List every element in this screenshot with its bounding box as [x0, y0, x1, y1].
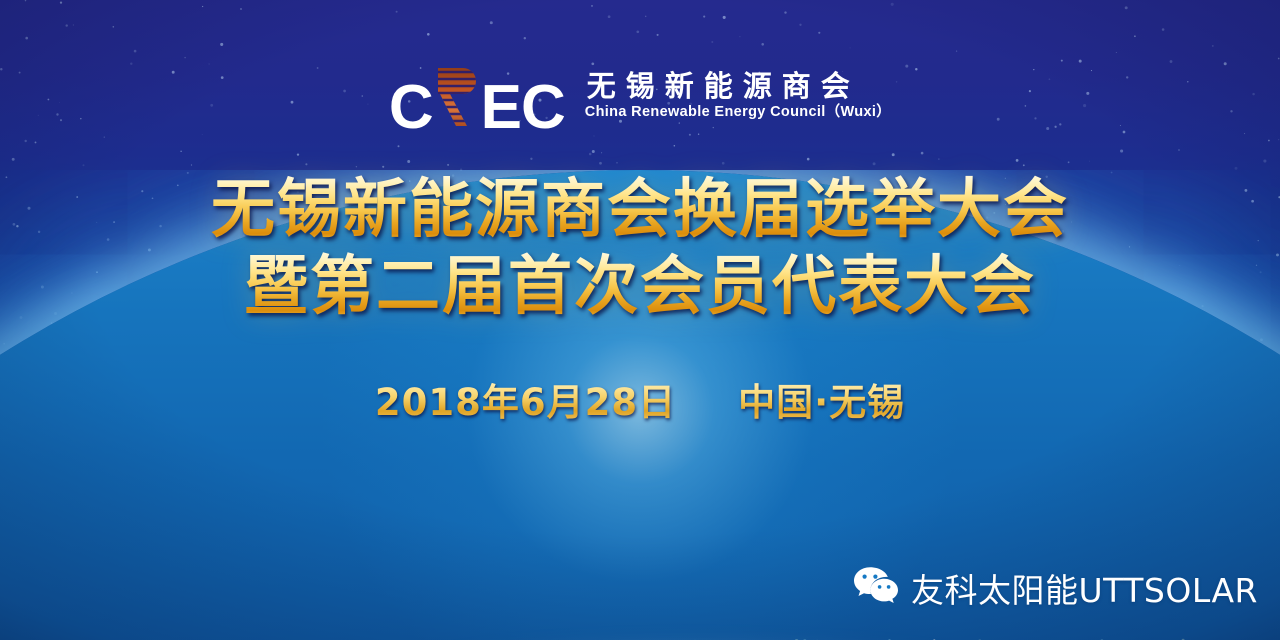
poster-banner: C [0, 0, 1280, 640]
wechat-watermark: 友科太阳能UTTSOLAR [853, 564, 1258, 612]
logo-english-name: China Renewable Energy Council（Wuxi） [585, 105, 891, 121]
title-line-1: 无锡新能源商会换届选举大会 [0, 172, 1280, 249]
main-title-block: 无锡新能源商会换届选举大会 暨第二届首次会员代表大会 [0, 172, 1280, 326]
logo-text-block: 无锡新能源商会 China Renewable Energy Council（W… [585, 68, 891, 121]
watermark-text: 友科太阳能UTTSOLAR [911, 564, 1258, 612]
event-meta-block: 2018年6月28日 中国·无锡 [0, 372, 1280, 426]
crec-letter-c2: C [521, 79, 565, 136]
crec-letter-c1: C [389, 79, 433, 136]
crec-wordmark: C [389, 66, 565, 136]
logo-chinese-name: 无锡新能源商会 [585, 72, 891, 102]
wechat-icon [853, 566, 899, 611]
crec-letter-e: E [481, 79, 521, 136]
title-line-2: 暨第二届首次会员代表大会 [0, 249, 1280, 326]
organization-logo: C [0, 68, 1280, 138]
event-location: 中国·无锡 [738, 372, 905, 426]
event-date: 2018年6月28日 [375, 372, 676, 426]
solar-panel-r-icon [434, 66, 480, 128]
